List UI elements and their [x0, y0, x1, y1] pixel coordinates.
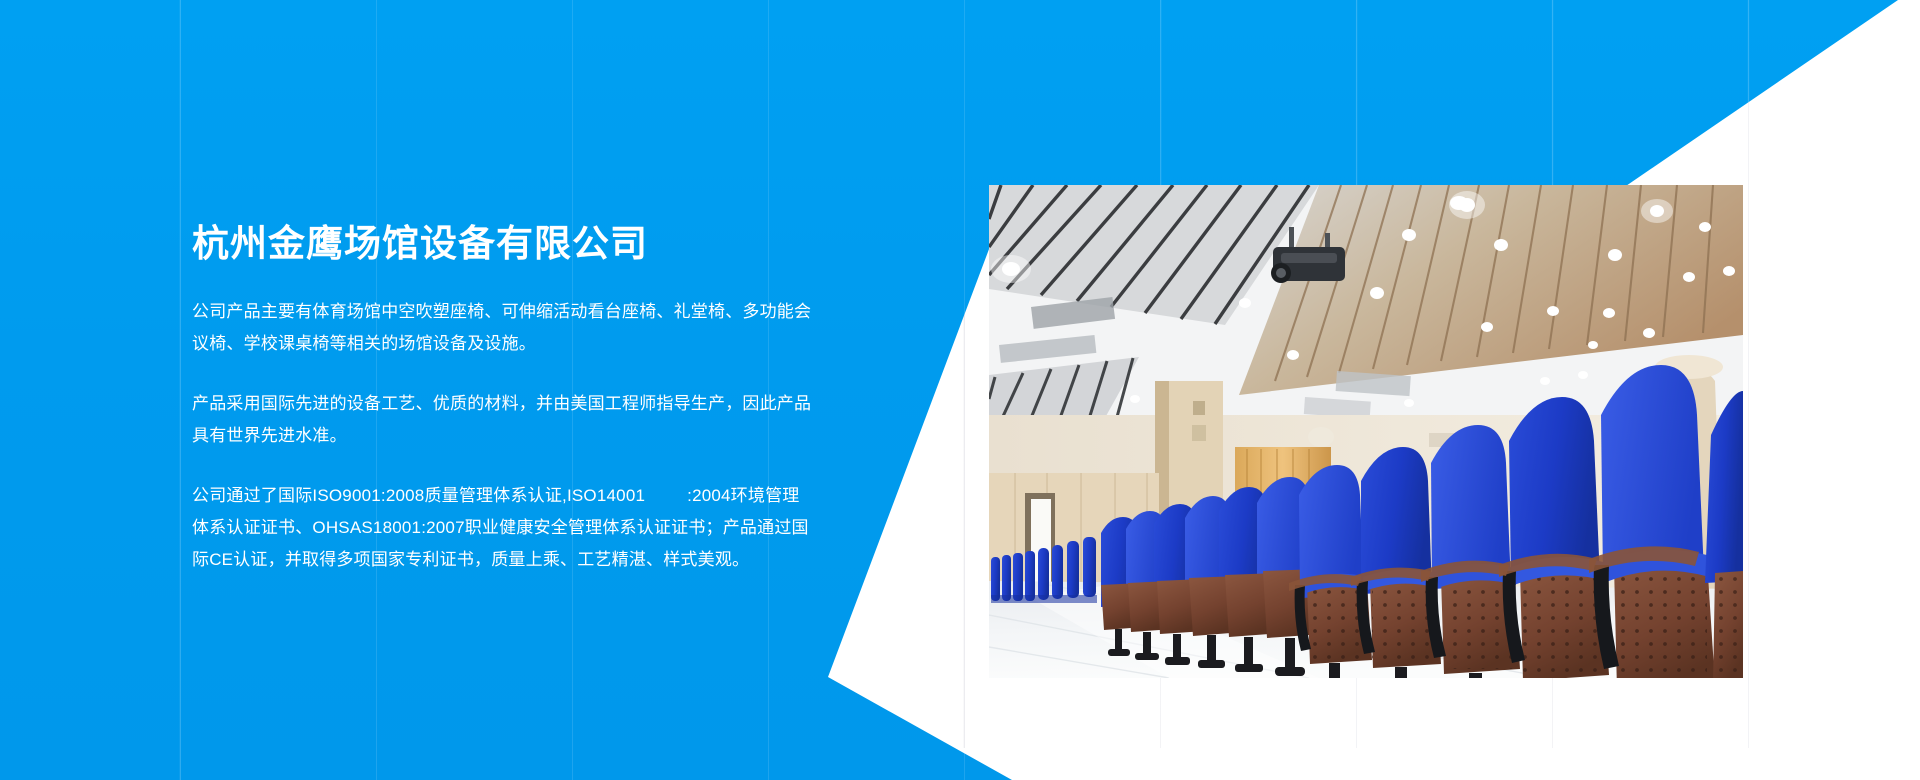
certification-text-part-1: 公司通过了国际ISO9001:2008质量管理体系认证,ISO14001: [192, 486, 645, 505]
intro-paragraph-certifications: 公司通过了国际ISO9001:2008质量管理体系认证,ISO14001:200…: [192, 480, 812, 576]
auditorium-seating-photo: [989, 185, 1743, 678]
auditorium-illustration: [989, 185, 1743, 678]
page-title: 杭州金鹰场馆设备有限公司: [192, 222, 812, 266]
intro-copy-block: 杭州金鹰场馆设备有限公司 公司产品主要有体育场馆中空吹塑座椅、可伸缩活动看台座椅…: [192, 222, 812, 576]
hero-banner: 杭州金鹰场馆设备有限公司 公司产品主要有体育场馆中空吹塑座椅、可伸缩活动看台座椅…: [0, 0, 1920, 780]
intro-paragraph-products: 公司产品主要有体育场馆中空吹塑座椅、可伸缩活动看台座椅、礼堂椅、多功能会议椅、学…: [192, 296, 812, 360]
intro-paragraph-quality: 产品采用国际先进的设备工艺、优质的材料，并由美国工程师指导生产，因此产品具有世界…: [192, 388, 812, 452]
